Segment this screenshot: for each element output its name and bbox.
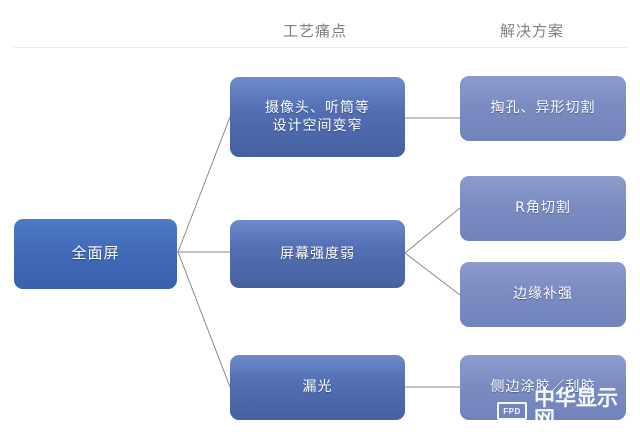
monitor-base xyxy=(501,426,523,429)
column-header-solutions: 解决方案 xyxy=(500,20,564,41)
watermark: FPD 中华显示网 chinafpd.net xyxy=(496,396,636,438)
column-header-pain-points: 工艺痛点 xyxy=(283,20,347,41)
node-pain-point-2[interactable]: 屏幕强度弱 xyxy=(230,220,405,288)
node-pain-point-3[interactable]: 漏光 xyxy=(230,355,405,420)
node-solution-2[interactable]: R角切割 xyxy=(460,176,626,241)
node-pain-point-1[interactable]: 摄像头、听筒等 设计空间变窄 xyxy=(230,77,405,157)
node-label: R角切割 xyxy=(515,199,571,217)
watermark-badge-label: FPD xyxy=(503,407,521,416)
header-divider xyxy=(14,47,628,48)
flowchart-page: 工艺痛点 解决方案 全面屏 摄像头、听筒等 设计空间变窄 屏幕强度弱 漏光 掏孔… xyxy=(0,0,640,442)
watermark-url: chinafpd.net xyxy=(534,430,636,442)
node-label: 漏光 xyxy=(303,378,333,396)
node-label-line2: 设计空间变窄 xyxy=(265,117,370,135)
watermark-text: 中华显示网 chinafpd.net xyxy=(534,388,636,442)
watermark-site-name: 中华显示网 xyxy=(534,388,636,430)
node-label: 屏幕强度弱 xyxy=(280,245,355,263)
monitor-icon: FPD xyxy=(496,401,530,433)
node-solution-1[interactable]: 掏孔、异形切割 xyxy=(460,76,626,141)
node-solution-3[interactable]: 边缘补强 xyxy=(460,262,626,327)
node-label-block: 摄像头、听筒等 设计空间变窄 xyxy=(265,99,370,136)
node-root-full-screen[interactable]: 全面屏 xyxy=(14,219,177,289)
node-label-line1: 摄像头、听筒等 xyxy=(265,99,370,117)
node-label: 边缘补强 xyxy=(513,285,573,303)
monitor-screen: FPD xyxy=(497,402,527,420)
node-label: 全面屏 xyxy=(71,244,119,264)
node-label: 掏孔、异形切割 xyxy=(491,99,596,117)
